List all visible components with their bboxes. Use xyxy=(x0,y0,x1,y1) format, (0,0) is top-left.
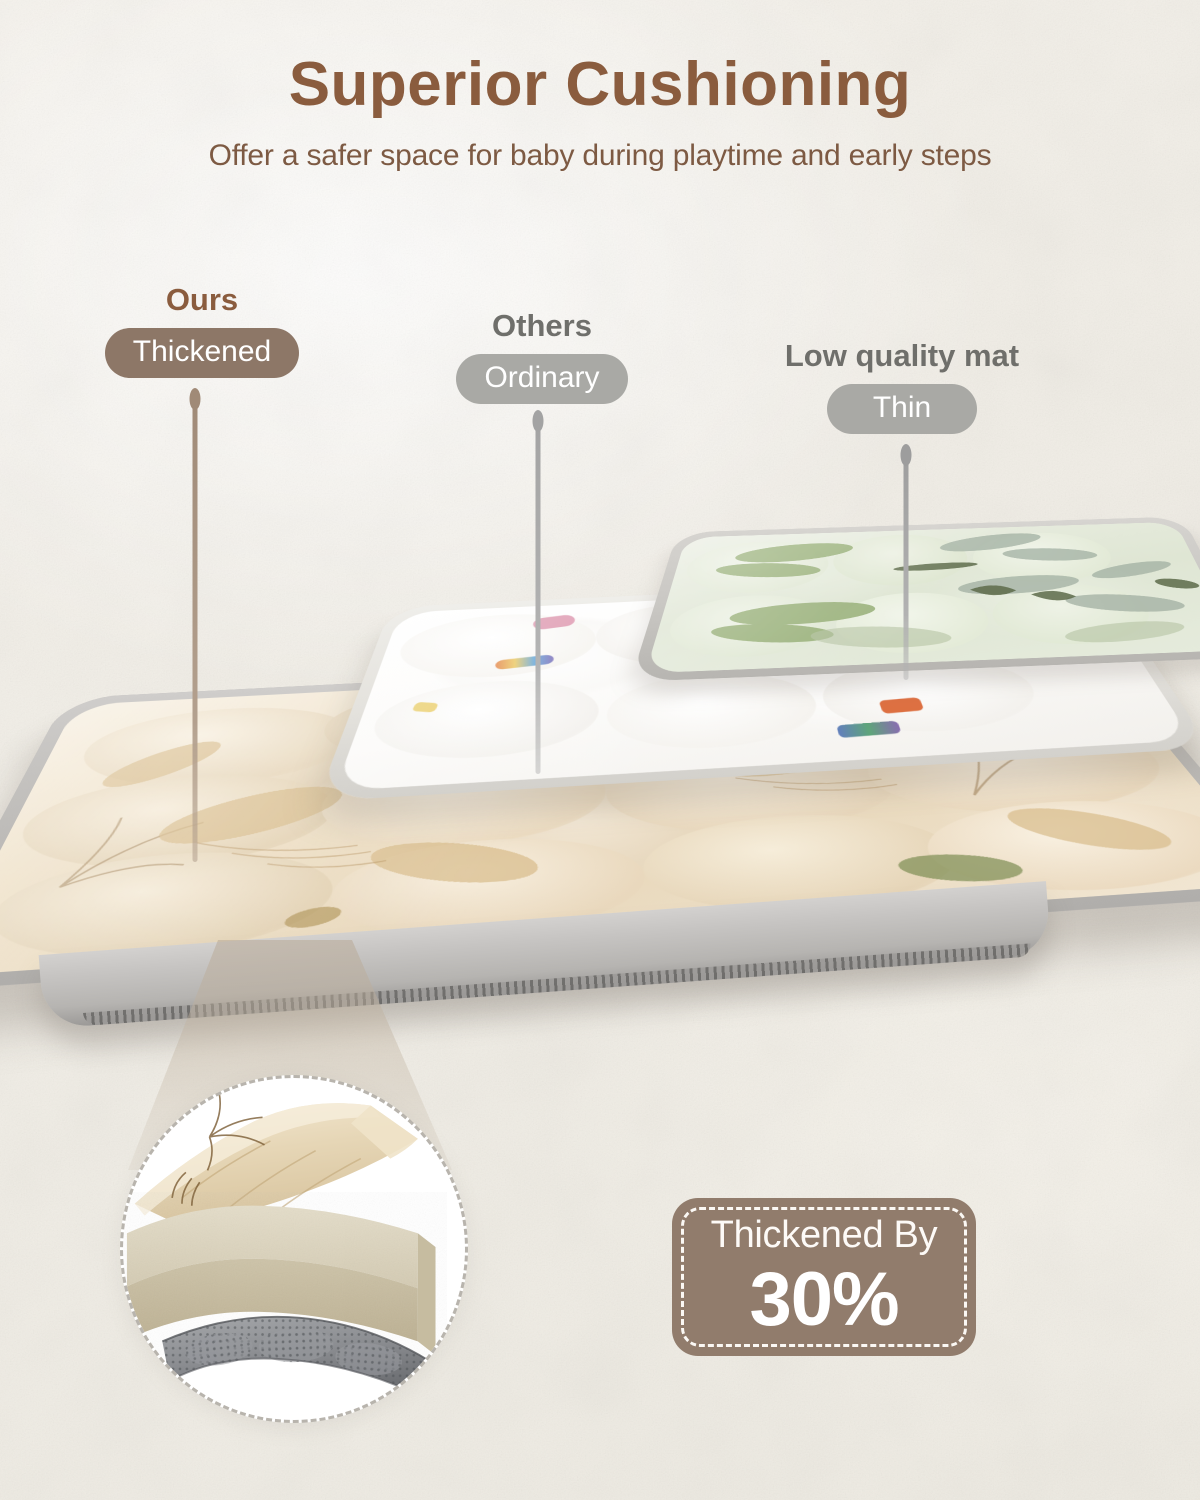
badge-thickened-pill: Thickened xyxy=(105,328,299,378)
page-subtitle: Offer a safer space for baby during play… xyxy=(0,139,1200,173)
mat-low-face xyxy=(645,522,1200,673)
comparison-caption-low-quality: Low quality mat xyxy=(762,340,1042,371)
comparison-group-ours: Ours Thickened xyxy=(104,284,300,378)
badge-label: Thickened By xyxy=(711,1216,938,1254)
comparison-caption-others: Others xyxy=(440,310,644,341)
pointer-knob xyxy=(190,388,201,410)
badge-percent-value: 30% xyxy=(749,1262,898,1338)
comparison-group-low-quality: Low quality mat Thin xyxy=(762,340,1042,434)
layer-cutaway-illustration xyxy=(123,1078,465,1420)
comparison-caption-ours: Ours xyxy=(104,284,300,315)
layer-printed-top-fabric xyxy=(135,1094,418,1226)
badge-ordinary-pill: Ordinary xyxy=(456,354,627,404)
comparison-group-others: Others Ordinary xyxy=(440,310,644,404)
mat-low-quality-thin xyxy=(630,517,1200,682)
badge-thin-pill: Thin xyxy=(827,384,977,434)
infographic-page: Superior Cushioning Offer a safer space … xyxy=(0,0,1200,1500)
product-photo-stage xyxy=(0,420,1200,1060)
page-title: Superior Cushioning xyxy=(0,52,1200,117)
thickened-by-badge: Thickened By 30% xyxy=(672,1198,976,1356)
header: Superior Cushioning Offer a safer space … xyxy=(0,52,1200,173)
layer-detail-inset xyxy=(120,1075,468,1423)
